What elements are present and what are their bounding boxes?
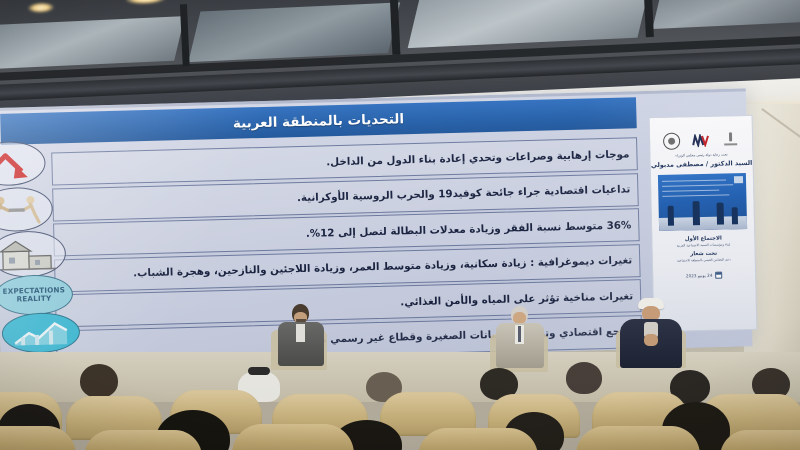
ceiling-mullion — [180, 4, 190, 66]
expectations-reality-label: EXPECTATIONSREALITY — [2, 287, 65, 304]
logo-row — [650, 116, 753, 154]
panelist-hands — [644, 334, 658, 346]
slogan-text: دعم التضامن القيمي بالمنطقة الاجتماعية — [653, 257, 755, 264]
photo-text-line — [663, 184, 733, 187]
photo-text-line — [663, 189, 719, 192]
screenshot-root: التحديات بالمنطقة العربية موجات إرهابية … — [0, 0, 800, 450]
event-date: 24 يونيو 2023 — [686, 272, 713, 278]
photo-text-line — [662, 179, 725, 182]
ministry-emblem-logo — [722, 131, 739, 148]
audience-member — [566, 362, 602, 394]
ceiling-mullion — [643, 0, 654, 37]
ceiling-glass-panel — [0, 16, 185, 69]
photo-text-line — [663, 194, 730, 197]
ceiling-glass-panel — [408, 0, 650, 48]
slide-row-text: تراجع اقتصادي وتهميش الكيانات الصغيرة وق… — [286, 325, 634, 346]
panelist-right — [620, 298, 682, 368]
audience-member — [80, 364, 118, 398]
ceiling-glass-panel — [652, 0, 800, 29]
event-date-row: 24 يونيو 2023 — [653, 270, 755, 279]
panelist-tie — [518, 326, 521, 342]
photo-figure — [692, 201, 700, 225]
conflict-people-icon — [0, 187, 53, 233]
meeting-subtitle: لبناء ومؤسسات التنمية الاجتماعية العربية — [652, 241, 754, 248]
slide-row-text: تغيرات ديموغرافية : زيادة سكانية، وزيادة… — [133, 254, 632, 279]
photo-figure — [717, 202, 724, 224]
audience-chair-foreground — [576, 426, 700, 450]
declining-arrow-icon — [0, 141, 46, 187]
slide-row-text: 36% متوسط نسبة الفقر وزيادة معدلات البطا… — [306, 219, 632, 240]
audience-chair-foreground — [418, 428, 538, 450]
panelist-left — [276, 304, 326, 366]
audience-chair-foreground — [84, 430, 202, 450]
ceiling-spotlight — [28, 2, 54, 13]
patronage-line: تحت رعاية دولة رئيس مجلس الوزراء — [650, 152, 752, 159]
ncw-logo — [692, 132, 709, 149]
ceiling-spotlight — [125, 0, 165, 5]
audience-chair-foreground — [232, 424, 354, 450]
circular-seal-logo — [663, 132, 680, 149]
photo-badge — [734, 176, 743, 183]
audience-chair-foreground — [0, 426, 76, 450]
slide-bullet-list: موجات إرهابية وصراعات وتحدي إعادة بناء ا… — [51, 137, 642, 365]
slide-row-text: تداعيات اقتصادية جراء جائحة كوفيد19 والح… — [297, 183, 631, 204]
panelist-center — [494, 306, 546, 368]
photo-figure — [668, 205, 674, 225]
photo-figure — [732, 207, 738, 224]
calendar-icon — [715, 271, 722, 278]
slide-row-text: موجات إرهابية وصراعات وتحدي إعادة بناء ا… — [326, 148, 629, 168]
slide-title: التحديات بالمنطقة العربية — [233, 111, 405, 131]
panel-photo — [658, 173, 747, 231]
ceiling-glass-panel — [188, 2, 400, 62]
patron-name: السيد الدكتور / مصطفى مدبولي — [651, 158, 753, 168]
panelist-shirt — [296, 324, 305, 342]
audience-area — [0, 366, 800, 450]
